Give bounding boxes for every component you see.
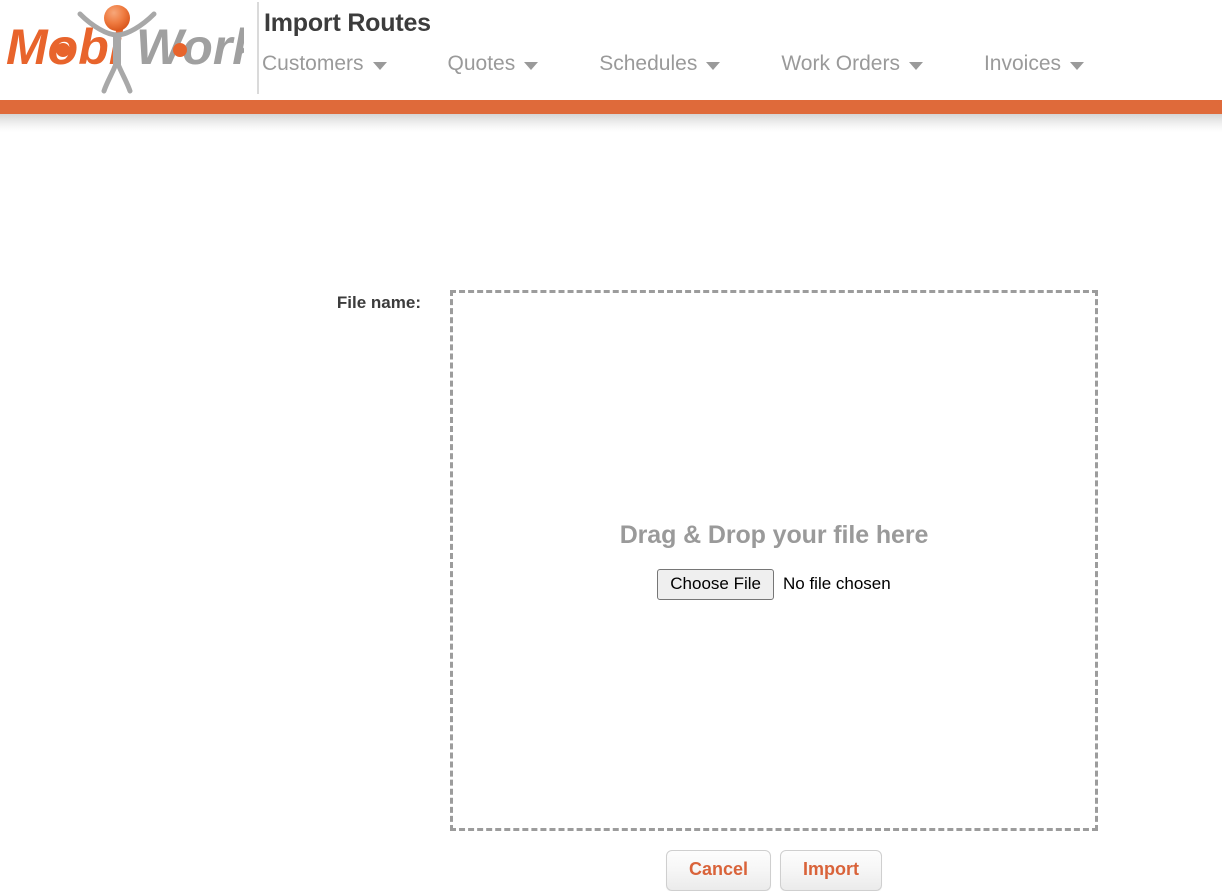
nav-item-label: Invoices [984, 52, 1061, 76]
choose-file-button[interactable]: Choose File [657, 569, 774, 600]
selected-file-name: No file chosen [783, 574, 891, 594]
nav-item-quotes[interactable]: Quotes [448, 52, 539, 76]
svg-text:Work: Work [136, 19, 244, 75]
nav-item-label: Quotes [448, 52, 516, 76]
nav-item-label: Customers [262, 52, 364, 76]
nav-item-customers[interactable]: Customers [262, 52, 387, 76]
brand-logo[interactable]: Mobi Work [0, 0, 246, 100]
chevron-down-icon [373, 62, 387, 70]
chevron-down-icon [706, 62, 720, 70]
chevron-down-icon [909, 62, 923, 70]
chevron-down-icon [1070, 62, 1084, 70]
mobiwork-logo-icon: Mobi Work [4, 2, 244, 94]
chevron-down-icon [524, 62, 538, 70]
form-actions: Cancel Import [450, 850, 1098, 891]
nav-item-invoices[interactable]: Invoices [984, 52, 1084, 76]
nav-item-label: Schedules [599, 52, 697, 76]
accent-bar [0, 100, 1222, 114]
main-navigation: Customers Quotes Schedules Work Orders I… [262, 52, 1222, 76]
file-name-label: File name: [321, 293, 421, 313]
import-button[interactable]: Import [780, 850, 882, 891]
page-title: Import Routes [264, 9, 431, 38]
dropzone-instruction: Drag & Drop your file here [620, 521, 929, 550]
header-content: Import Routes Customers Quotes Schedules… [246, 0, 1222, 100]
app-header: Mobi Work [0, 0, 1222, 100]
file-input-row: Choose File No file chosen [657, 569, 890, 600]
nav-item-label: Work Orders [781, 52, 900, 76]
file-dropzone[interactable]: Drag & Drop your file here Choose File N… [450, 290, 1098, 831]
nav-item-work-orders[interactable]: Work Orders [781, 52, 923, 76]
nav-item-schedules[interactable]: Schedules [599, 52, 720, 76]
accent-bar-shadow [0, 114, 1222, 132]
cancel-button[interactable]: Cancel [666, 850, 771, 891]
import-routes-form: File name: Drag & Drop your file here Ch… [0, 132, 1222, 782]
